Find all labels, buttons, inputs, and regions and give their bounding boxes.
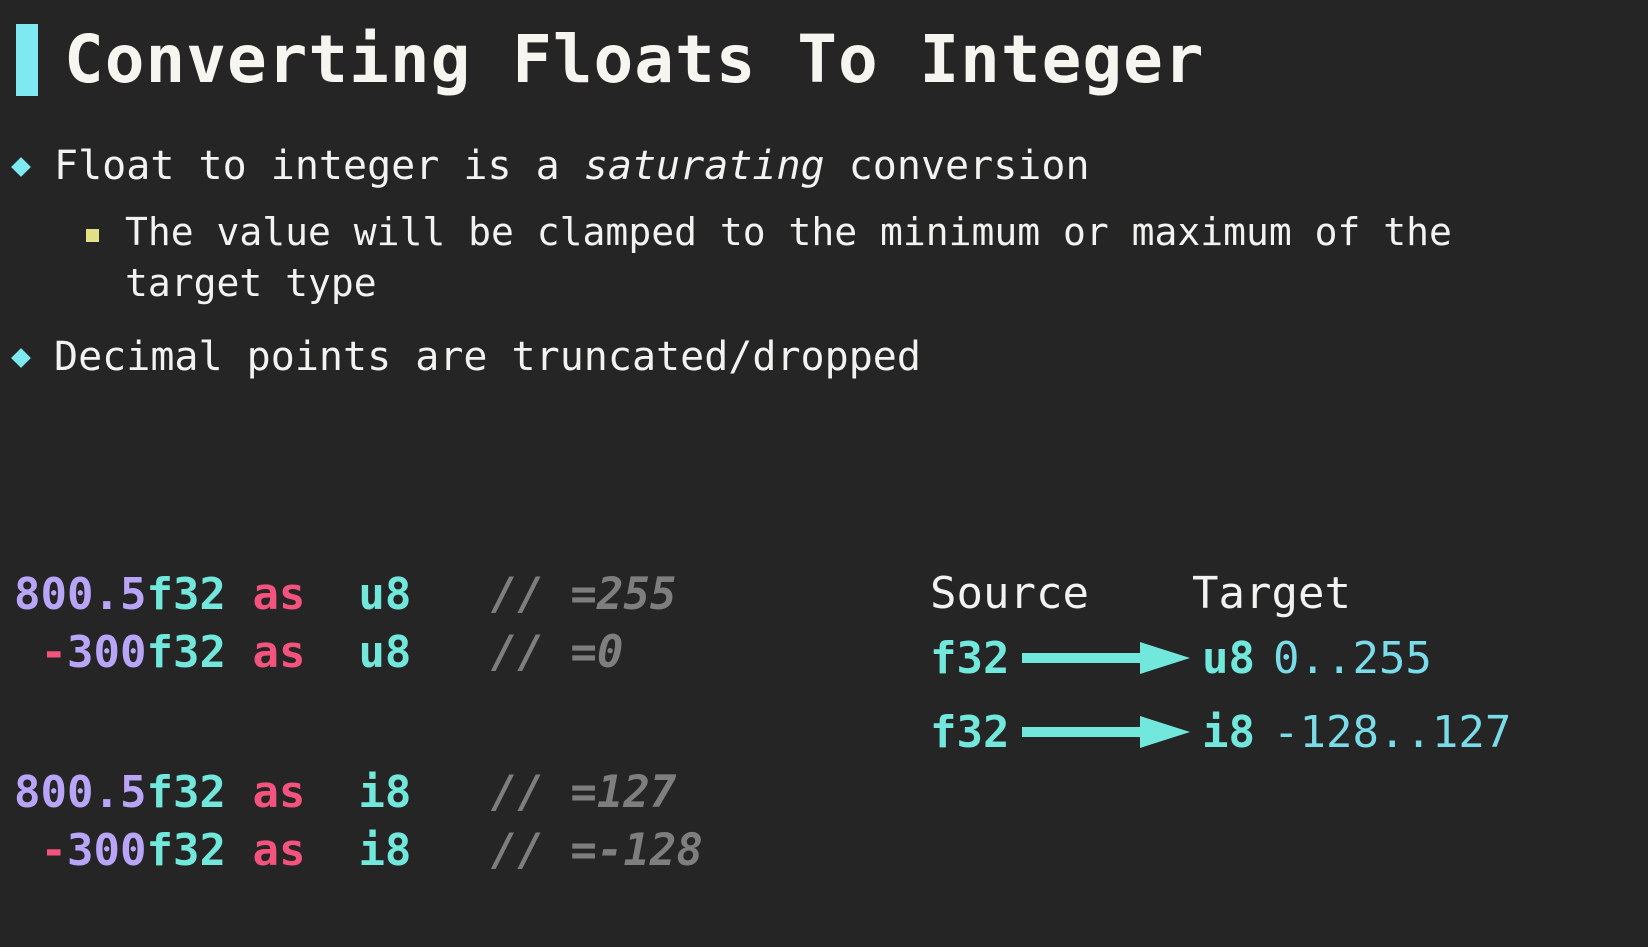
code-comment: // =-128 bbox=[491, 825, 703, 876]
code-number: 300 bbox=[67, 825, 146, 876]
right-arrow-icon bbox=[1022, 638, 1192, 678]
code-comment: // =0 bbox=[491, 627, 623, 678]
code-keyword-as: as bbox=[252, 825, 305, 876]
bullet-text-part-before: Float to integer is a bbox=[54, 143, 584, 189]
code-type-suffix: f32 bbox=[146, 627, 225, 678]
code-minus-sign: - bbox=[41, 825, 68, 876]
code-block: 800.5f32 as u8 // =255 -300f32 as u8 // … bbox=[14, 508, 703, 880]
code-line-3: 800.5f32 as i8 // =127 bbox=[14, 767, 676, 818]
code-type-suffix: f32 bbox=[146, 767, 225, 818]
conversion-diagram: Source Target f32 u8 0..255 f32 i8 -128.… bbox=[930, 568, 1511, 777]
code-comment: // =255 bbox=[491, 569, 676, 620]
sub-bullet-text-clamped: The value will be clamped to the minimum… bbox=[125, 207, 1455, 310]
diagram-target-range: 0..255 bbox=[1273, 633, 1432, 684]
title-text: Converting Floats To Integer bbox=[64, 27, 1205, 93]
diagram-header-target: Target bbox=[1192, 568, 1351, 619]
code-number: 800.5 bbox=[14, 767, 146, 818]
code-keyword-as: as bbox=[252, 569, 305, 620]
code-keyword-as: as bbox=[252, 767, 305, 818]
diagram-row-i8: f32 i8 -128..127 bbox=[930, 703, 1511, 761]
bullet-text-part-after: conversion bbox=[825, 143, 1090, 189]
code-type-suffix: f32 bbox=[146, 825, 225, 876]
diagram-target-type: u8 bbox=[1202, 633, 1255, 684]
bullet-emphasis-saturating: saturating bbox=[584, 143, 825, 189]
code-target-type: i8 bbox=[358, 825, 411, 876]
code-line-1: 800.5f32 as u8 // =255 bbox=[14, 569, 676, 620]
list-item: Float to integer is a saturating convers… bbox=[14, 140, 1614, 193]
code-keyword-as: as bbox=[252, 627, 305, 678]
code-blank-line bbox=[14, 682, 703, 706]
bullet-text-saturating: Float to integer is a saturating convers… bbox=[54, 140, 1090, 193]
bullet-list: Float to integer is a saturating convers… bbox=[14, 140, 1614, 398]
title-accent-bar-icon bbox=[16, 24, 38, 96]
page-title: Converting Floats To Integer bbox=[16, 16, 1205, 104]
diagram-row-u8: f32 u8 0..255 bbox=[930, 629, 1511, 687]
diamond-bullet-icon bbox=[11, 157, 31, 177]
code-minus-sign: - bbox=[41, 627, 68, 678]
code-number: 300 bbox=[67, 627, 146, 678]
code-target-type: u8 bbox=[358, 569, 411, 620]
bullet-text-decimal: Decimal points are truncated/dropped bbox=[54, 331, 921, 384]
diagram-target-type: i8 bbox=[1202, 707, 1255, 758]
diagram-source-type: f32 bbox=[930, 707, 1022, 758]
square-bullet-icon bbox=[86, 229, 99, 242]
diagram-header-source: Source bbox=[930, 568, 1192, 619]
code-line-4: -300f32 as i8 // =-128 bbox=[14, 825, 703, 876]
code-line-2: -300f32 as u8 // =0 bbox=[14, 627, 623, 678]
code-target-type: i8 bbox=[358, 767, 411, 818]
code-number: 800.5 bbox=[14, 569, 146, 620]
sub-list-item: The value will be clamped to the minimum… bbox=[86, 207, 1614, 310]
code-target-type: u8 bbox=[358, 627, 411, 678]
diagram-header-row: Source Target bbox=[930, 568, 1511, 619]
diagram-target-range: -128..127 bbox=[1273, 707, 1511, 758]
right-arrow-icon bbox=[1022, 712, 1192, 752]
diamond-bullet-icon bbox=[11, 348, 31, 368]
code-type-suffix: f32 bbox=[146, 569, 225, 620]
code-comment: // =127 bbox=[491, 767, 676, 818]
diagram-source-type: f32 bbox=[930, 633, 1022, 684]
list-item: Decimal points are truncated/dropped bbox=[14, 331, 1614, 384]
